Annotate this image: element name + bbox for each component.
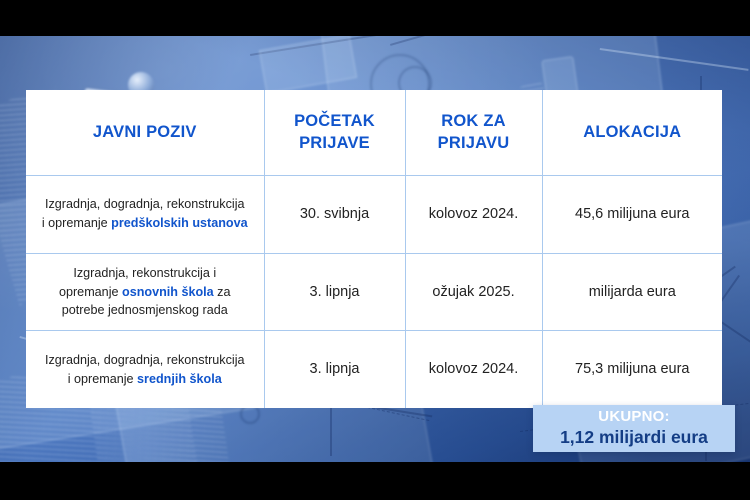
desc-line: za <box>214 285 231 299</box>
cell-deadline: kolovoz 2024. <box>405 176 542 254</box>
cell-allocation: milijarda eura <box>542 253 722 331</box>
desc-line: Izgradnja, rekonstrukcija i <box>73 266 216 280</box>
desc-line: i opremanje <box>42 216 111 230</box>
column-header-line: PRIJAVU <box>438 134 510 152</box>
table-row: Izgradnja, rekonstrukcija i opremanje os… <box>26 253 722 331</box>
cell-start-date: 3. lipnja <box>264 331 405 408</box>
cell-description: Izgradnja, dogradnja, rekonstrukcija i o… <box>26 176 264 254</box>
column-header-javni-poziv: JAVNI POZIV <box>26 90 264 176</box>
column-header-line: PRIJAVE <box>299 134 370 152</box>
desc-line: potrebe jednosmjenskog rada <box>62 303 228 317</box>
desc-line: Izgradnja, dogradnja, rekonstrukcija <box>45 197 245 211</box>
column-header-rok-za-prijavu: ROK ZA PRIJAVU <box>405 90 542 176</box>
column-header-line: ALOKACIJA <box>583 123 681 141</box>
column-header-line: ROK ZA <box>441 112 505 130</box>
column-header-line: POČETAK <box>294 112 375 130</box>
cell-allocation: 75,3 milijuna eura <box>542 331 722 408</box>
table-row: Izgradnja, dogradnja, rekonstrukcija i o… <box>26 331 722 408</box>
table-header: JAVNI POZIV POČETAK PRIJAVE ROK ZA PRIJA… <box>26 90 722 176</box>
total-badge-label: UKUPNO: <box>598 409 669 425</box>
table-card: JAVNI POZIV POČETAK PRIJAVE ROK ZA PRIJA… <box>26 90 722 408</box>
desc-highlight: predškolskih ustanova <box>111 216 247 230</box>
table-body: Izgradnja, dogradnja, rekonstrukcija i o… <box>26 176 722 409</box>
desc-line: Izgradnja, dogradnja, rekonstrukcija <box>45 353 245 367</box>
desc-highlight: osnovnih škola <box>122 285 214 299</box>
column-header-pocetak-prijave: POČETAK PRIJAVE <box>264 90 405 176</box>
cell-description: Izgradnja, dogradnja, rekonstrukcija i o… <box>26 331 264 408</box>
desc-line: i opremanje <box>68 372 137 386</box>
table-row: Izgradnja, dogradnja, rekonstrukcija i o… <box>26 176 722 254</box>
cell-start-date: 3. lipnja <box>264 253 405 331</box>
column-header-alokacija: ALOKACIJA <box>542 90 722 176</box>
cell-deadline: kolovoz 2024. <box>405 331 542 408</box>
total-badge-value: 1,12 milijardi eura <box>560 427 708 448</box>
cell-start-date: 30. svibnja <box>264 176 405 254</box>
letterbox-bar-top <box>0 0 750 36</box>
desc-highlight: srednjih škola <box>137 372 222 386</box>
cell-description: Izgradnja, rekonstrukcija i opremanje os… <box>26 253 264 331</box>
cell-deadline: ožujak 2025. <box>405 253 542 331</box>
slide-stage: JAVNI POZIV POČETAK PRIJAVE ROK ZA PRIJA… <box>0 0 750 500</box>
cell-allocation: 45,6 milijuna eura <box>542 176 722 254</box>
column-header-line: JAVNI POZIV <box>93 123 197 141</box>
public-calls-table: JAVNI POZIV POČETAK PRIJAVE ROK ZA PRIJA… <box>26 90 722 408</box>
desc-line: opremanje <box>59 285 122 299</box>
letterbox-bar-bottom <box>0 462 750 500</box>
table-header-row: JAVNI POZIV POČETAK PRIJAVE ROK ZA PRIJA… <box>26 90 722 176</box>
total-badge: UKUPNO: 1,12 milijardi eura <box>533 405 735 452</box>
